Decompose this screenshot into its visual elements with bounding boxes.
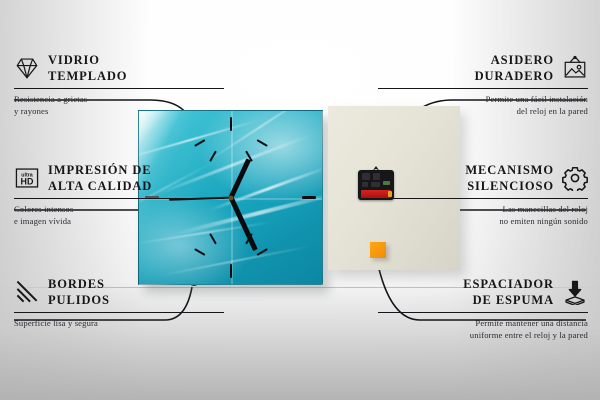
feature-title-line1: BORDES xyxy=(48,276,110,292)
feature-subtitle-line1: Permite una fácil instalación xyxy=(378,93,588,105)
feature-subtitle-line2: uniforme entre el reloj y la pared xyxy=(378,329,588,341)
infographic-canvas: VIDRIO TEMPLADO Resistencia a grietas y … xyxy=(0,0,600,400)
feature-title-line2: SILENCIOSO xyxy=(465,178,554,194)
feature-title-line1: ESPACIADOR xyxy=(463,276,554,292)
feature-subtitle-line2: y rayones xyxy=(14,105,224,117)
feature-subtitle-line2: no emiten ningún sonido xyxy=(378,215,588,227)
wall-hanger-icon xyxy=(562,55,588,81)
feature-subtitle-line1: Las manecillas del reloj xyxy=(378,203,588,215)
hour-tick xyxy=(230,117,232,131)
polished-edges-icon xyxy=(14,279,40,305)
feature-title-line1: VIDRIO xyxy=(48,52,127,68)
hour-tick xyxy=(302,196,316,199)
gear-icon xyxy=(562,165,588,191)
feature-divider xyxy=(14,312,224,313)
feature-subtitle-line1: Resistencia a grietas xyxy=(14,93,224,105)
feature-impresion-alta-calidad: ultra HD IMPRESIÓN DE ALTA CALIDAD Color… xyxy=(14,162,224,227)
feature-divider xyxy=(378,198,588,199)
feature-subtitle-line1: Colores intensos xyxy=(14,203,224,215)
feature-title-line2: DE ESPUMA xyxy=(463,292,554,308)
svg-text:HD: HD xyxy=(21,177,34,187)
feature-mecanismo-silencioso: MECANISMO SILENCIOSO Las manecillas del … xyxy=(378,162,588,227)
feature-asidero-duradero: ASIDERO DURADERO Permite una fácil insta… xyxy=(378,52,588,117)
feature-vidrio-templado: VIDRIO TEMPLADO Resistencia a grietas y … xyxy=(14,52,224,117)
feature-divider xyxy=(14,198,224,199)
feature-subtitle-line1: Permite mantener una distancia xyxy=(378,317,588,329)
feature-title-line2: DURADERO xyxy=(475,68,554,84)
feature-subtitle-line1: Superficie lisa y segura xyxy=(14,317,224,329)
foam-spacer xyxy=(370,242,386,258)
feature-title-line2: TEMPLADO xyxy=(48,68,127,84)
ultra-hd-icon: ultra HD xyxy=(14,165,40,191)
feature-bordes-pulidos: BORDES PULIDOS Superficie lisa y segura xyxy=(14,276,224,329)
hour-tick xyxy=(230,264,232,278)
feature-divider xyxy=(14,88,224,89)
feature-espaciador-espuma: ESPACIADOR DE ESPUMA Permite mantener un… xyxy=(378,276,588,341)
feature-subtitle-line2: e imagen vívida xyxy=(14,215,224,227)
feature-subtitle-line2: del reloj en la pared xyxy=(378,105,588,117)
feature-title-line2: PULIDOS xyxy=(48,292,110,308)
feature-title-line1: MECANISMO xyxy=(465,162,554,178)
feature-title-line1: IMPRESIÓN DE xyxy=(48,162,152,178)
foam-spacer-icon xyxy=(562,279,588,305)
feature-divider xyxy=(378,312,588,313)
feature-title-line2: ALTA CALIDAD xyxy=(48,178,152,194)
clock-center-pin xyxy=(228,195,233,200)
diamond-icon xyxy=(14,55,40,81)
feature-divider xyxy=(378,88,588,89)
feature-title-line1: ASIDERO xyxy=(475,52,554,68)
